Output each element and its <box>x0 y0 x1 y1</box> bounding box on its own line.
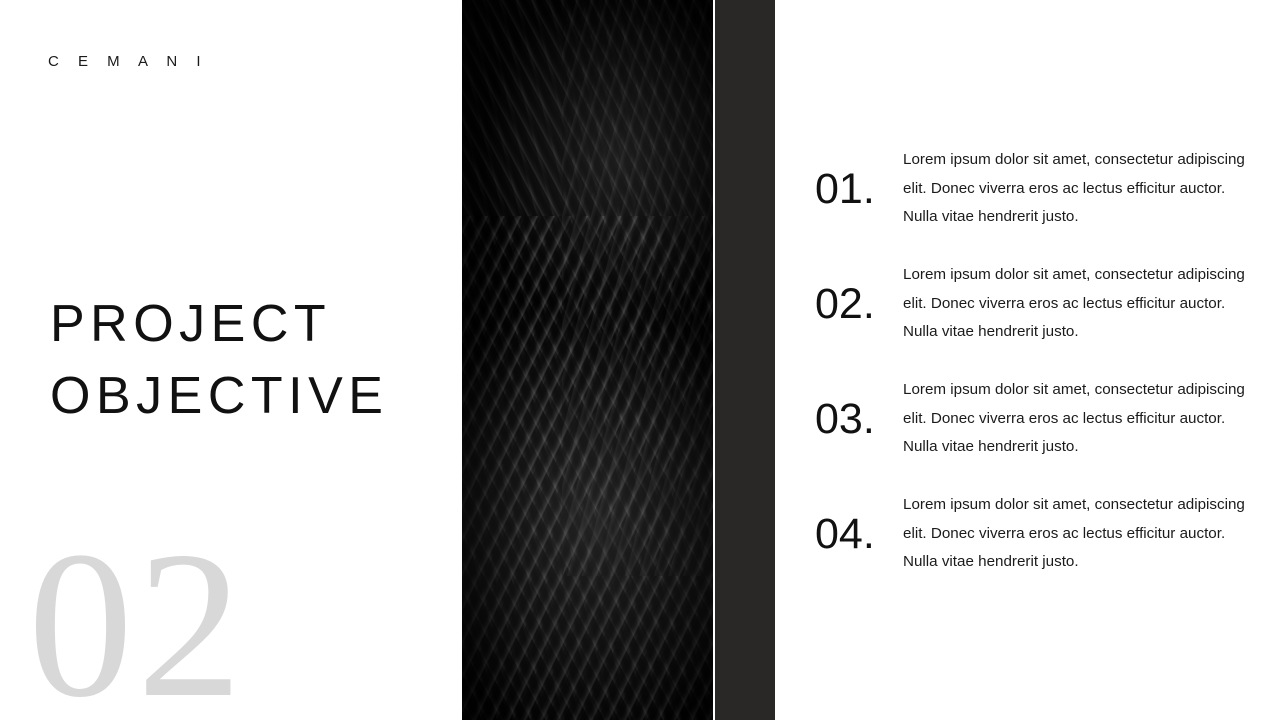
page-title-line-1: PROJECT <box>50 288 450 360</box>
list-item-text: Lorem ipsum dolor sit amet, consectetur … <box>903 491 1255 576</box>
list-item: 04. Lorem ipsum dolor sit amet, consecte… <box>815 491 1255 577</box>
list-item-number: 04. <box>815 513 903 556</box>
brand-logo: C E M A N I <box>48 53 208 70</box>
list-item-number: 02. <box>815 283 903 326</box>
list-item-text: Lorem ipsum dolor sit amet, consectetur … <box>903 376 1255 461</box>
photo-vignette <box>462 0 713 720</box>
slide-number-watermark: 02 <box>28 520 246 720</box>
accent-bar <box>715 0 775 720</box>
list-item-number: 01. <box>815 168 903 211</box>
palm-frond-photo <box>462 0 713 720</box>
page-title-line-2: OBJECTIVE <box>50 360 450 432</box>
list-item-number: 03. <box>815 398 903 441</box>
list-item: 03. Lorem ipsum dolor sit amet, consecte… <box>815 376 1255 462</box>
objective-list: 01. Lorem ipsum dolor sit amet, consecte… <box>815 146 1255 577</box>
list-item-text: Lorem ipsum dolor sit amet, consectetur … <box>903 146 1255 231</box>
list-item: 01. Lorem ipsum dolor sit amet, consecte… <box>815 146 1255 232</box>
list-item-text: Lorem ipsum dolor sit amet, consectetur … <box>903 261 1255 346</box>
page-title: PROJECT OBJECTIVE <box>50 288 450 432</box>
list-item: 02. Lorem ipsum dolor sit amet, consecte… <box>815 261 1255 347</box>
slide: C E M A N I PROJECT OBJECTIVE 02 01. Lor… <box>0 0 1280 720</box>
